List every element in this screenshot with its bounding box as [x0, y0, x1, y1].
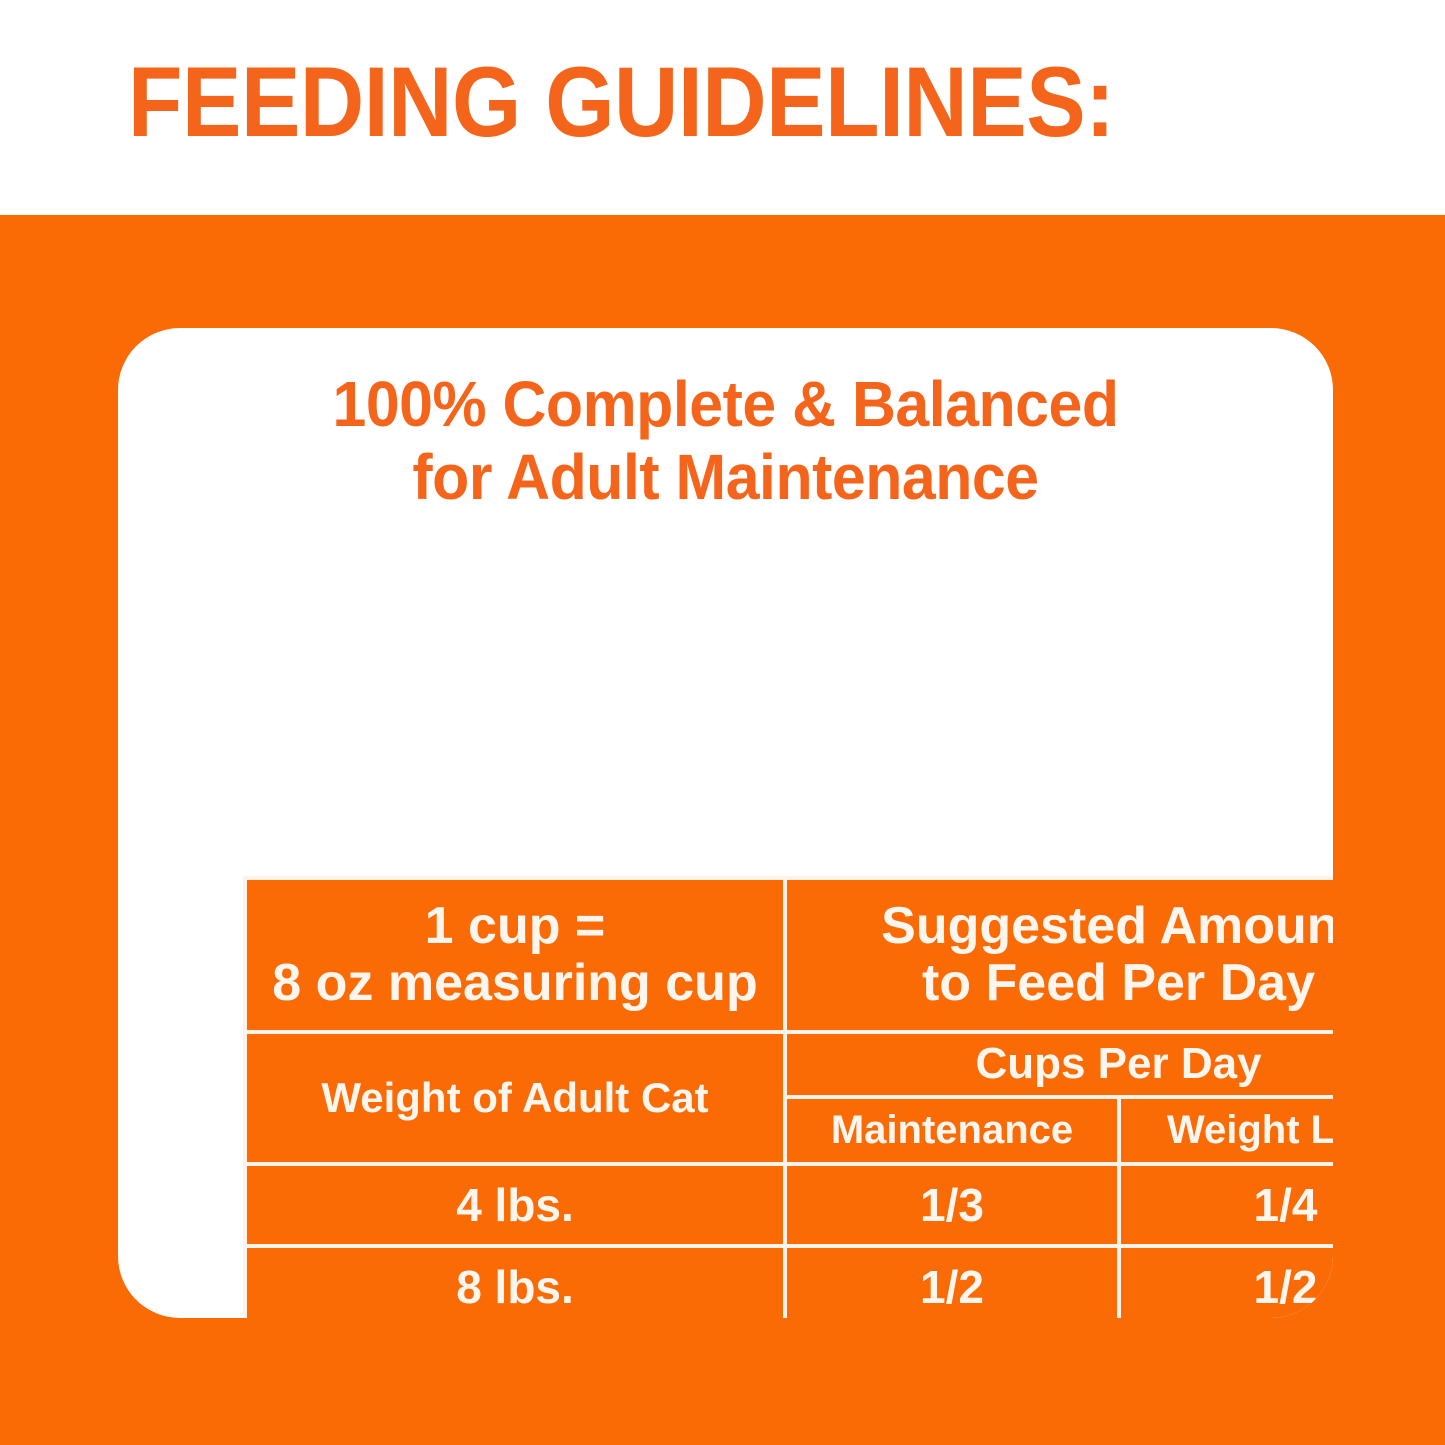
suggested-amount-line-2: to Feed Per Day	[787, 955, 1333, 1012]
feeding-guidelines-panel: FEEDING GUIDELINES: 100% Complete & Bala…	[0, 0, 1445, 1445]
feeding-table-container: 1 cup = 8 oz measuring cup Suggested Amo…	[243, 876, 1333, 1318]
table-row: 8 lbs. 1/2 1/2	[247, 1248, 1333, 1318]
feeding-table: 1 cup = 8 oz measuring cup Suggested Amo…	[243, 876, 1333, 1318]
cup-definition-cell: 1 cup = 8 oz measuring cup	[247, 880, 783, 1030]
cell-weight: 4 lbs.	[247, 1166, 783, 1244]
header-band: FEEDING GUIDELINES:	[0, 0, 1445, 215]
table-row: 4 lbs. 1/3 1/4	[247, 1166, 1333, 1244]
cup-definition-line-2: 8 oz measuring cup	[247, 955, 783, 1012]
cups-per-day-header: Cups Per Day	[787, 1034, 1333, 1095]
card-heading-line-2: for Adult Maintenance	[148, 441, 1302, 514]
suggested-amount-line-1: Suggested Amount	[787, 898, 1333, 955]
cell-maintenance: 1/2	[787, 1248, 1117, 1318]
suggested-amount-cell: Suggested Amount to Feed Per Day	[787, 880, 1333, 1030]
weight-column-header: Weight of Adult Cat	[247, 1034, 783, 1162]
cup-definition-line-1: 1 cup =	[247, 898, 783, 955]
cell-maintenance: 1/3	[787, 1166, 1117, 1244]
subheader-maintenance: Maintenance	[787, 1099, 1117, 1162]
card-heading-line-1: 100% Complete & Balanced	[332, 368, 1118, 440]
page-title: FEEDING GUIDELINES:	[128, 52, 1114, 151]
cell-weight-loss: 1/4	[1121, 1166, 1333, 1244]
cell-weight: 8 lbs.	[247, 1248, 783, 1318]
guidelines-card: 100% Complete & Balanced for Adult Maint…	[118, 328, 1333, 1318]
cell-weight-loss: 1/2	[1121, 1248, 1333, 1318]
card-heading: 100% Complete & Balanced for Adult Maint…	[148, 368, 1302, 514]
table-row-cups-per-day-header: Weight of Adult Cat Cups Per Day	[247, 1034, 1333, 1095]
table-row-definitions: 1 cup = 8 oz measuring cup Suggested Amo…	[247, 880, 1333, 1030]
subheader-weight-loss: Weight Loss	[1121, 1099, 1333, 1162]
